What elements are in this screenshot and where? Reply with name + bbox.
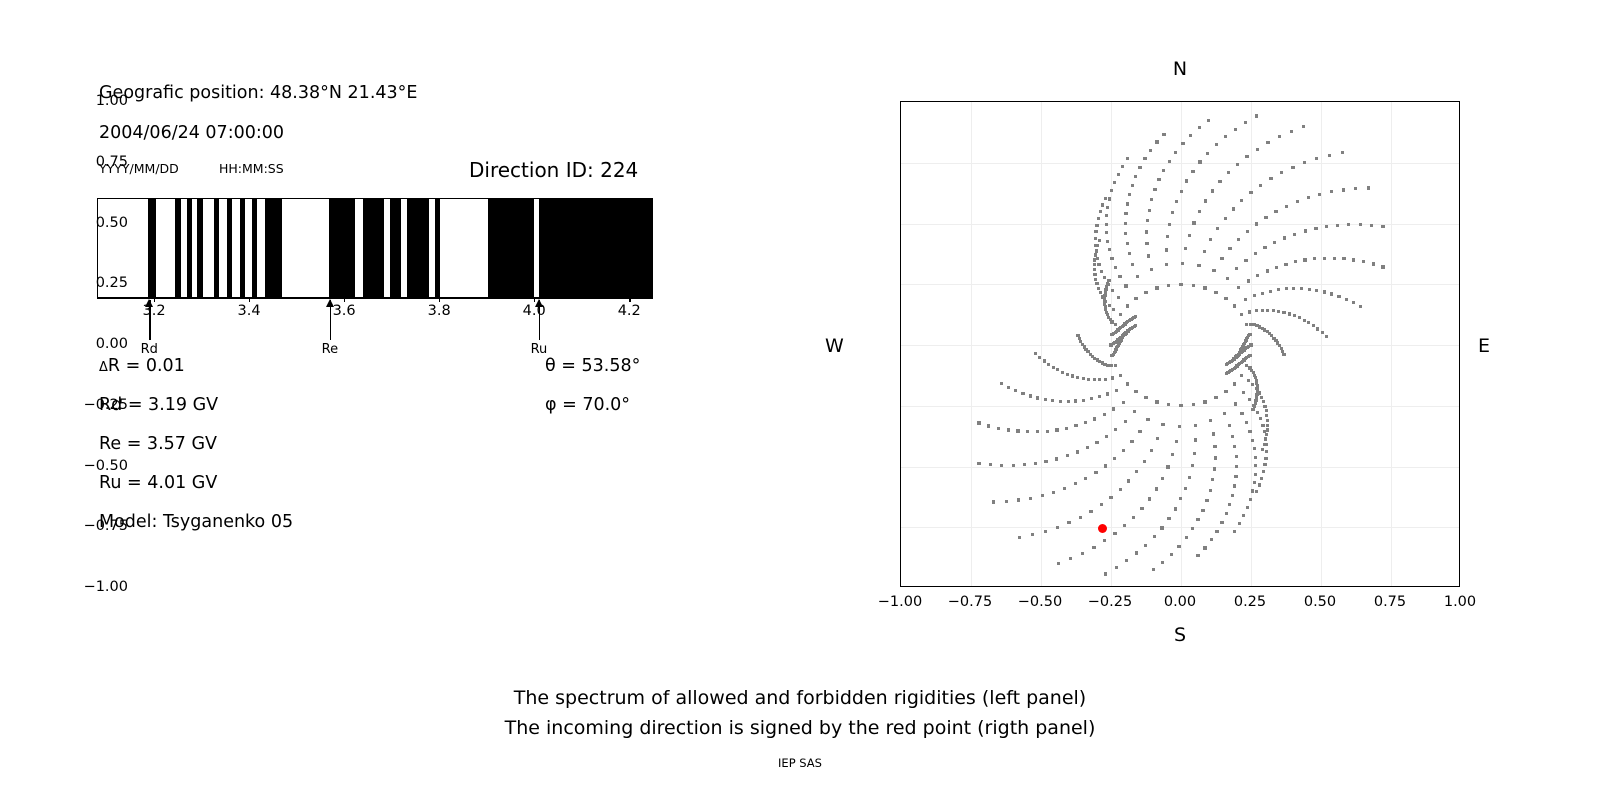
direction-dot (1240, 374, 1243, 377)
direction-dot (1114, 364, 1117, 367)
direction-dot (1122, 449, 1125, 452)
direction-dot (1161, 477, 1164, 480)
direction-dot (1314, 227, 1317, 230)
direction-dot (1235, 267, 1238, 270)
direction-dot (1119, 488, 1122, 491)
direction-dot (1246, 506, 1249, 509)
direction-dot (1127, 479, 1130, 482)
direction-dot (1300, 287, 1303, 290)
direction-dot (1248, 430, 1251, 433)
direction-dot (1111, 289, 1114, 292)
direction-dot (1254, 252, 1257, 255)
direction-dot (1044, 530, 1047, 533)
direction-dot (1257, 391, 1260, 394)
direction-dot (1082, 377, 1085, 380)
direction-dot (1237, 286, 1240, 289)
direction-dot (1168, 223, 1171, 226)
direction-dot (1251, 383, 1254, 386)
direction-dot (1251, 439, 1254, 442)
direction-dot (1110, 189, 1113, 192)
direction-dot (1255, 309, 1258, 312)
direction-dot (1272, 309, 1275, 312)
direction-dot (1265, 443, 1268, 446)
direction-dot (1114, 323, 1117, 326)
direction-dot (1256, 274, 1259, 277)
direction-dot (1303, 319, 1306, 322)
direction-dot (1144, 291, 1147, 294)
direction-dot (1111, 376, 1114, 379)
direction-dot (1188, 234, 1191, 237)
y-axis-tick-label: −0.75 (84, 518, 128, 534)
direction-dot (1184, 487, 1187, 490)
direction-dot (1288, 312, 1291, 315)
y-axis-tick-label: −0.25 (84, 397, 128, 413)
direction-dot (1224, 217, 1227, 220)
direction-dot (1121, 165, 1124, 168)
direction-dot (1260, 396, 1263, 399)
gridline-horizontal (901, 224, 1459, 225)
direction-dot (1224, 390, 1227, 393)
direction-dot (1100, 270, 1103, 273)
direction-dot (1198, 210, 1201, 213)
direction-dot (1210, 538, 1213, 541)
direction-dot (992, 500, 995, 503)
direction-dot (1352, 258, 1355, 261)
direction-dot (1098, 395, 1101, 398)
direction-dot (1265, 409, 1268, 412)
direction-dot (1283, 236, 1286, 239)
direction-dot (1254, 464, 1257, 467)
direction-dot (1303, 161, 1306, 164)
direction-dot (1342, 188, 1345, 191)
direction-dot (1194, 438, 1197, 441)
direction-dot (1167, 517, 1170, 520)
direction-dot (1152, 568, 1155, 571)
direction-dot (1228, 247, 1231, 250)
direction-dot (1103, 413, 1106, 416)
direction-dot (1212, 269, 1215, 272)
direction-dot (1036, 396, 1039, 399)
direction-dot (1253, 481, 1256, 484)
direction-dot (1234, 402, 1237, 405)
gridline-vertical (1321, 102, 1322, 586)
direction-dot (997, 427, 1000, 430)
direction-dot (1245, 421, 1248, 424)
direction-dot (1094, 237, 1097, 240)
x-axis-tick-label: 0.50 (1304, 594, 1336, 610)
direction-dot (1119, 313, 1122, 316)
x-axis-tick (1181, 586, 1182, 587)
incoming-direction-marker (1098, 524, 1107, 533)
x-axis-tick (1391, 586, 1392, 587)
incoming-direction-panel: N S W E −1.00−0.75−0.50−0.250.000.250.50… (0, 0, 1600, 660)
gridline-vertical (1181, 102, 1182, 586)
direction-dot (1234, 128, 1237, 131)
direction-dot (1263, 246, 1266, 249)
direction-dot (1225, 372, 1228, 375)
direction-dot (1047, 363, 1050, 366)
direction-dot (1087, 378, 1090, 381)
direction-dot (1029, 497, 1032, 500)
gridline-horizontal (901, 467, 1459, 468)
x-axis-tick (901, 586, 902, 587)
direction-dot (1074, 399, 1077, 402)
direction-dot (1095, 224, 1098, 227)
direction-dot (1104, 288, 1107, 291)
direction-dot (1177, 545, 1180, 548)
direction-dot (1104, 308, 1107, 311)
direction-dot (1251, 489, 1254, 492)
direction-dot (1192, 221, 1195, 224)
direction-dot (1021, 392, 1024, 395)
direction-dot (1167, 284, 1170, 287)
direction-dot (1204, 199, 1207, 202)
direction-dot (1307, 196, 1310, 199)
direction-dot (1240, 199, 1243, 202)
direction-dot (1321, 331, 1324, 334)
direction-dot (1097, 287, 1100, 290)
y-axis-tick-label: −1.00 (84, 579, 128, 595)
direction-dot (1280, 171, 1283, 174)
direction-dot (1244, 121, 1247, 124)
direction-dot (1381, 265, 1384, 268)
direction-dot (1153, 535, 1156, 538)
direction-dot (1130, 440, 1133, 443)
direction-dot (1156, 437, 1159, 440)
direction-dot (1255, 222, 1258, 225)
direction-dot (1333, 257, 1336, 260)
direction-dot (1198, 160, 1201, 163)
direction-dot (1148, 209, 1151, 212)
compass-label-south: S (1174, 624, 1186, 646)
direction-dot (977, 421, 980, 424)
gridline-vertical (1041, 102, 1042, 586)
direction-dot (1104, 464, 1107, 467)
direction-dot (1278, 135, 1281, 138)
direction-dot (1263, 430, 1266, 433)
direction-dot (1113, 181, 1116, 184)
y-axis-tick (900, 284, 901, 285)
direction-dot (1126, 157, 1129, 160)
direction-dot (1078, 337, 1081, 340)
direction-dot (1052, 491, 1055, 494)
direction-dot (1094, 471, 1097, 474)
direction-dot (1155, 400, 1158, 403)
direction-dot (1193, 452, 1196, 455)
direction-dot (1240, 412, 1243, 415)
direction-dot (1263, 405, 1266, 408)
direction-dot (1235, 455, 1238, 458)
direction-dot (1258, 483, 1261, 486)
direction-dot (1285, 287, 1288, 290)
direction-dot (1214, 396, 1217, 399)
compass-label-east: E (1478, 335, 1490, 357)
direction-dot (1168, 160, 1171, 163)
direction-dot (1171, 211, 1174, 214)
direction-dot (1191, 170, 1194, 173)
direction-dot (1145, 230, 1148, 233)
direction-dot (1157, 178, 1160, 181)
direction-dot (1101, 203, 1104, 206)
direction-dot (1166, 465, 1169, 468)
direction-dot (1076, 376, 1079, 379)
direction-dot (1124, 212, 1127, 215)
direction-dot (1298, 316, 1301, 319)
direction-dot (1094, 230, 1097, 233)
direction-dot (1007, 386, 1010, 389)
direction-dot (1291, 166, 1294, 169)
direction-dot (1143, 460, 1146, 463)
direction-dot (1212, 432, 1215, 435)
direction-dot (1136, 275, 1139, 278)
direction-dot (1104, 305, 1107, 308)
direction-dot (1285, 205, 1288, 208)
direction-dot (1036, 430, 1039, 433)
direction-dot (1313, 257, 1316, 260)
direction-dot (1354, 187, 1357, 190)
direction-dot (1372, 262, 1375, 265)
y-axis-tick (900, 224, 901, 225)
x-axis-tick-label: 1.00 (1444, 594, 1476, 610)
direction-dot (1196, 518, 1199, 521)
x-axis-tick (1111, 586, 1112, 587)
direction-dot (1315, 289, 1318, 292)
direction-dot (1162, 169, 1165, 172)
direction-dot (1233, 530, 1236, 533)
direction-dot (1240, 313, 1243, 316)
y-axis-tick (900, 467, 901, 468)
direction-dot (1214, 456, 1217, 459)
direction-dot (1052, 366, 1055, 369)
direction-dot (1181, 142, 1184, 145)
direction-dot (1225, 512, 1228, 515)
direction-dot (1067, 521, 1070, 524)
direction-dot (1110, 257, 1113, 260)
direction-dot (1302, 125, 1305, 128)
direction-dot (1094, 244, 1097, 247)
direction-dot (1134, 390, 1137, 393)
direction-dot (1056, 368, 1059, 371)
compass-label-north: N (1173, 58, 1187, 80)
direction-dot (1292, 287, 1295, 290)
direction-dot (1220, 257, 1223, 260)
direction-dot (1284, 263, 1287, 266)
direction-dot (1005, 500, 1008, 503)
direction-dot (1205, 499, 1208, 502)
direction-dot (1131, 263, 1134, 266)
direction-dot (1034, 352, 1037, 355)
x-axis-tick-label: −0.25 (1088, 594, 1132, 610)
caption-line-1: The spectrum of allowed and forbidden ri… (514, 687, 1086, 709)
y-axis-tick-label: −0.50 (84, 458, 128, 474)
direction-dot (1150, 449, 1153, 452)
direction-dot (1181, 262, 1184, 265)
direction-dot (1165, 263, 1168, 266)
direction-dot (1323, 290, 1326, 293)
direction-scatter-plot (900, 101, 1460, 587)
direction-dot (1251, 408, 1254, 411)
direction-dot (1238, 522, 1241, 525)
direction-dot (1381, 225, 1384, 228)
x-axis-tick-label: 0.25 (1234, 594, 1266, 610)
direction-dot (1029, 394, 1032, 397)
direction-dot (1117, 173, 1120, 176)
direction-dot (1099, 291, 1102, 294)
direction-dot (1112, 407, 1115, 410)
direction-dot (1266, 424, 1269, 427)
direction-dot (1312, 324, 1315, 327)
direction-dot (1134, 175, 1137, 178)
direction-dot (1201, 509, 1204, 512)
direction-dot (1000, 382, 1003, 385)
direction-dot (1247, 379, 1250, 382)
direction-dot (1203, 250, 1206, 253)
direction-dot (1113, 457, 1116, 460)
direction-dot (1153, 188, 1156, 191)
direction-dot (1330, 292, 1333, 295)
direction-dot (1038, 356, 1041, 359)
direction-dot (1044, 398, 1047, 401)
direction-dot (1261, 424, 1264, 427)
direction-dot (1211, 189, 1214, 192)
direction-dot (1115, 389, 1118, 392)
direction-dot (1245, 323, 1248, 326)
direction-dot (1128, 193, 1131, 196)
direction-dot (1233, 484, 1236, 487)
direction-dot (1226, 277, 1229, 280)
direction-dot (1106, 392, 1109, 395)
direction-dot (1227, 171, 1230, 174)
direction-dot (1106, 283, 1109, 286)
x-axis-tick-label: −0.75 (948, 594, 992, 610)
direction-dot (1097, 217, 1100, 220)
direction-dot (1093, 417, 1096, 420)
y-axis-tick-label: 1.00 (96, 93, 128, 109)
direction-dot (1266, 309, 1269, 312)
direction-dot (1119, 374, 1122, 377)
direction-dot (1259, 184, 1262, 187)
direction-dot (1197, 264, 1200, 267)
direction-dot (1207, 119, 1210, 122)
direction-dot (1150, 198, 1153, 201)
direction-dot (1150, 268, 1153, 271)
direction-dot (1191, 527, 1194, 530)
direction-dot (1256, 411, 1259, 414)
direction-dot (1098, 378, 1101, 381)
direction-dot (1296, 200, 1299, 203)
direction-dot (1031, 533, 1034, 536)
direction-dot (1165, 248, 1168, 251)
direction-dot (1370, 224, 1373, 227)
direction-dot (1345, 298, 1348, 301)
direction-dot (1209, 419, 1212, 422)
direction-dot (1209, 489, 1212, 492)
direction-dot (1081, 343, 1084, 346)
direction-dot (1235, 465, 1238, 468)
direction-dot (1189, 134, 1192, 137)
x-axis-tick-label: −0.50 (1018, 594, 1062, 610)
direction-dot (1218, 180, 1221, 183)
direction-dot (1307, 321, 1310, 324)
direction-dot (1245, 155, 1248, 158)
direction-dot (1115, 566, 1118, 569)
x-axis-tick (1251, 586, 1252, 587)
direction-dot (1234, 475, 1237, 478)
direction-dot (1269, 290, 1272, 293)
direction-dot (1224, 135, 1227, 138)
direction-dot (1126, 382, 1129, 385)
direction-dot (1155, 487, 1158, 490)
direction-dot (1124, 420, 1127, 423)
direction-dot (1233, 445, 1236, 448)
gridline-vertical (971, 102, 972, 586)
direction-dot (1101, 295, 1104, 298)
direction-dot (1214, 291, 1217, 294)
direction-dot (1290, 130, 1293, 133)
direction-dot (1192, 284, 1195, 287)
direction-dot (1076, 450, 1079, 453)
direction-dot (1147, 254, 1150, 257)
y-axis-tick (900, 527, 901, 528)
direction-dot (1266, 419, 1269, 422)
direction-dot (1308, 288, 1311, 291)
direction-dot (1179, 497, 1182, 500)
direction-dot (1034, 462, 1037, 465)
direction-dot (1264, 457, 1267, 460)
direction-dot (1260, 477, 1263, 480)
direction-dot (1100, 503, 1103, 506)
direction-dot (1179, 404, 1182, 407)
direction-dot (1026, 430, 1029, 433)
direction-dot (1282, 353, 1285, 356)
direction-dot (1103, 363, 1106, 366)
compass-label-west: W (825, 335, 844, 357)
direction-dot (1264, 216, 1267, 219)
direction-dot (1148, 497, 1151, 500)
direction-dot (1213, 467, 1216, 470)
direction-dot (1093, 268, 1096, 271)
direction-dot (1185, 179, 1188, 182)
direction-dot (1112, 308, 1115, 311)
direction-dot (1095, 441, 1098, 444)
direction-dot (1128, 252, 1131, 255)
direction-dot (1124, 284, 1127, 287)
direction-dot (1242, 391, 1245, 394)
direction-dot (1342, 257, 1345, 260)
direction-dot (1066, 373, 1069, 376)
direction-dot (1105, 435, 1108, 438)
direction-dot (1103, 276, 1106, 279)
direction-dot (1105, 223, 1108, 226)
direction-dot (1104, 378, 1107, 381)
direction-dot (1108, 304, 1111, 307)
direction-dot (1093, 273, 1096, 276)
direction-dot (1294, 260, 1297, 263)
direction-dot (1330, 190, 1333, 193)
direction-dot (1225, 363, 1228, 366)
direction-dot (1125, 559, 1128, 562)
direction-dot (1253, 294, 1256, 297)
direction-dot (1138, 430, 1141, 433)
direction-dot (1274, 210, 1277, 213)
direction-dot (1325, 335, 1328, 338)
direction-dot (1215, 143, 1218, 146)
direction-dot (1277, 288, 1280, 291)
direction-dot (1069, 557, 1072, 560)
direction-dot (987, 424, 990, 427)
direction-dot (1174, 151, 1177, 154)
direction-dot (1132, 516, 1135, 519)
